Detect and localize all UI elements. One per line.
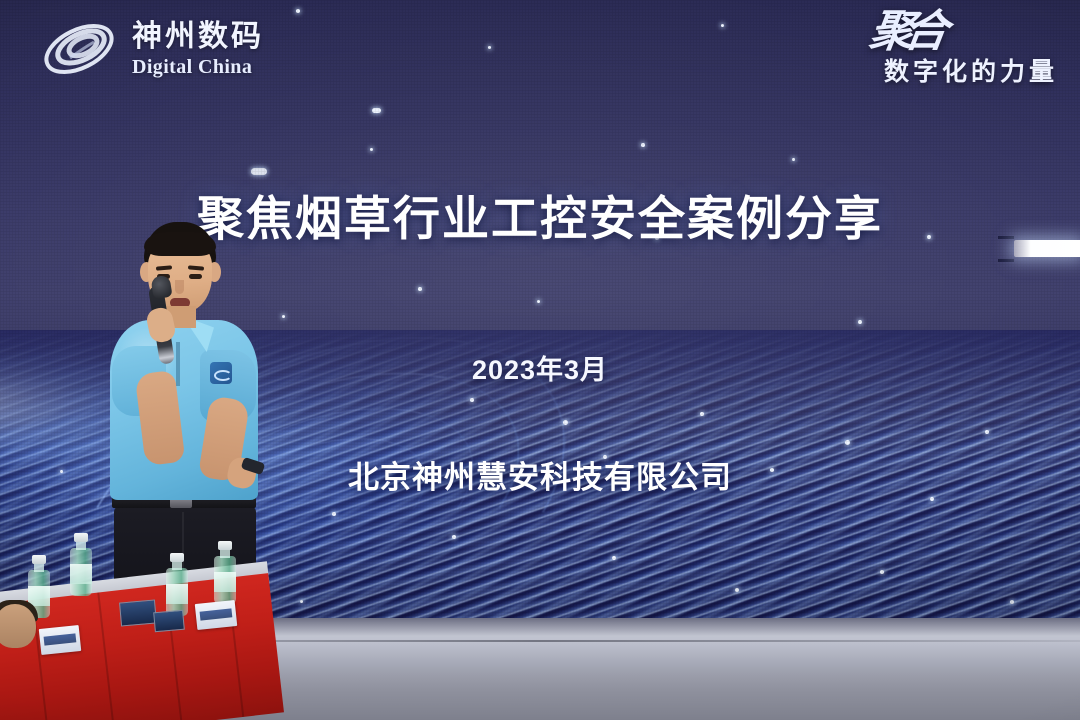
brand-name-en: Digital China — [132, 57, 264, 77]
water-bottle — [166, 554, 188, 616]
swirl-logo-icon — [40, 18, 118, 80]
name-card — [39, 625, 81, 655]
name-card — [195, 600, 237, 630]
light-fixture-arm — [998, 236, 1014, 239]
laptop-screen — [153, 610, 185, 633]
stage-light-icon — [1014, 240, 1080, 257]
brand-name-cn: 神州数码 — [132, 22, 264, 52]
laptop-screen — [119, 599, 157, 626]
slogan-subtitle: 数字化的力量 — [870, 52, 1058, 88]
event-slogan: 聚合 数字化的力量 — [870, 14, 1058, 88]
shirt-logo-icon — [210, 362, 232, 384]
seated-attendee — [0, 604, 36, 648]
light-fixture-arm-lower — [998, 259, 1014, 262]
presentation-photo: 神州数码 Digital China 聚合 数字化的力量 聚焦烟草行业工控安全案… — [0, 0, 1080, 720]
slogan-calligraphy: 聚合 — [867, 14, 1060, 50]
brand-logo: 神州数码 Digital China — [40, 18, 264, 80]
water-bottle — [214, 542, 236, 604]
water-bottle — [70, 534, 92, 596]
